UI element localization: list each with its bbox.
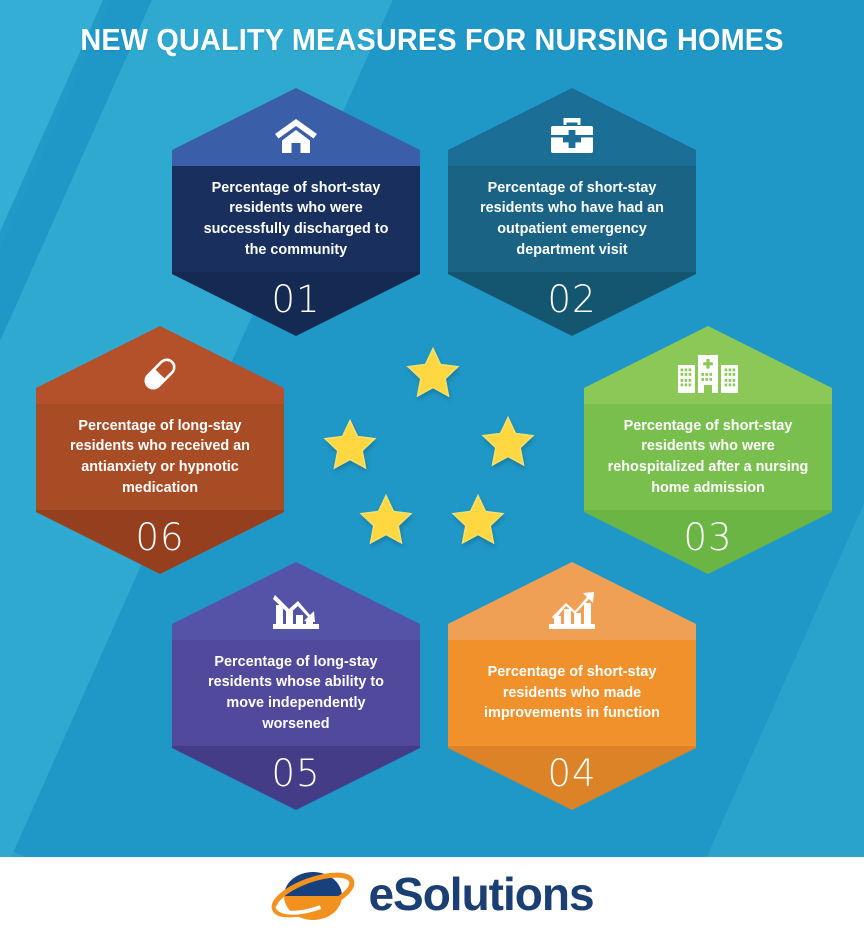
- measure-text: Percentage of short-stay residents who w…: [192, 178, 400, 260]
- star-icon: [480, 414, 536, 470]
- star-icon: [322, 417, 378, 473]
- hexagon-text-band: Percentage of short-stay residents who w…: [172, 166, 420, 272]
- page-title: NEW QUALITY MEASURES FOR NURSING HOMES: [30, 22, 834, 58]
- footer-logo-bar: eSolutions: [0, 857, 864, 933]
- hexagon-text-band: Percentage of long-stay residents who re…: [36, 404, 284, 510]
- star-icon: [450, 492, 506, 548]
- star-icon: [358, 492, 414, 548]
- measure-text: Percentage of short-stay residents who w…: [604, 416, 812, 498]
- hexagon-text-band: Percentage of short-stay residents who h…: [448, 166, 696, 272]
- measure-text: Percentage of long-stay residents who re…: [56, 416, 264, 498]
- hexagon-text-band: Percentage of short-stay residents who w…: [584, 404, 832, 510]
- measure-text: Percentage of long-stay residents whose …: [192, 652, 400, 734]
- esolutions-wordmark: eSolutions: [368, 871, 593, 917]
- infographic-page: NEW QUALITY MEASURES FOR NURSING HOMES P…: [0, 0, 864, 933]
- star-icon: [405, 345, 461, 401]
- measure-text: Percentage of short-stay residents who h…: [468, 178, 676, 260]
- esolutions-planet-logo: [270, 866, 356, 924]
- star-rating-cluster: [310, 340, 554, 570]
- measure-text: Percentage of short-stay residents who m…: [468, 662, 676, 724]
- hexagon-text-band: Percentage of long-stay residents whose …: [172, 640, 420, 746]
- hexagon-text-band: Percentage of short-stay residents who m…: [448, 640, 696, 746]
